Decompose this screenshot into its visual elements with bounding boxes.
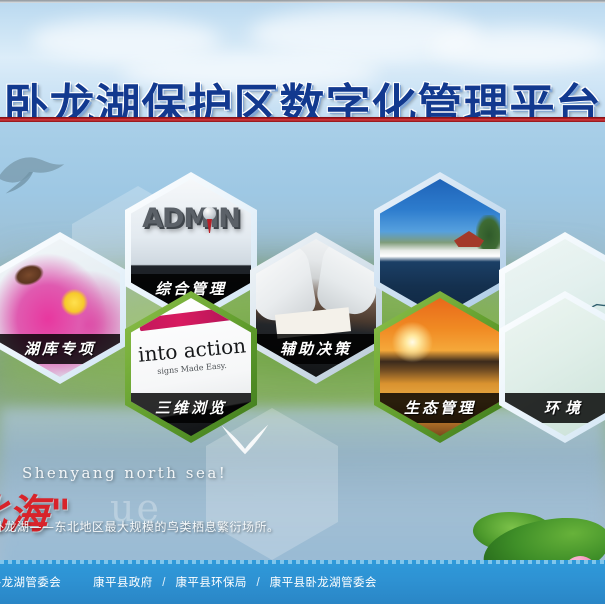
footer-separator: / bbox=[256, 577, 260, 589]
admin-word-mark: ADMIN bbox=[137, 203, 245, 234]
banner-english-tagline: Shenyang north sea! bbox=[22, 464, 227, 482]
footer-content-row: 康平县卧龙湖管委会 康平县政府 / 康平县环保局 / 康平县卧龙湖管委会 bbox=[0, 572, 605, 592]
window-top-edge bbox=[0, 0, 605, 3]
footer-bar: 康平县卧龙湖管委会 康平县政府 / 康平县环保局 / 康平县卧龙湖管委会 bbox=[0, 560, 605, 604]
admin-head-icon bbox=[203, 207, 216, 220]
cloud-decor bbox=[30, 18, 220, 62]
footer-link-wolonghu-committee[interactable]: 康平县卧龙湖管委会 bbox=[270, 577, 377, 589]
footer-top-dotted-edge bbox=[0, 560, 605, 564]
page-root: 卧龙湖保护区数字化管理平台 湖库专项 ADMIN 综合管理 bbox=[0, 0, 605, 604]
flying-bird-icon bbox=[0, 144, 72, 204]
footer-link-county-government[interactable]: 康平县政府 bbox=[93, 577, 153, 589]
footer-separator: / bbox=[162, 577, 166, 589]
footer-link-environment-bureau[interactable]: 康平县环保局 bbox=[175, 577, 246, 589]
footer-links: 康平县政府 / 康平县环保局 / 康平县卧龙湖管委会 bbox=[93, 574, 377, 590]
banner-caption: 卧龙湖——东北地区最大规模的鸟类栖息繁衍场所。 bbox=[0, 518, 280, 535]
cloud-decor bbox=[430, 28, 605, 68]
footer-organization: 康平县卧龙湖管委会 bbox=[0, 574, 61, 590]
